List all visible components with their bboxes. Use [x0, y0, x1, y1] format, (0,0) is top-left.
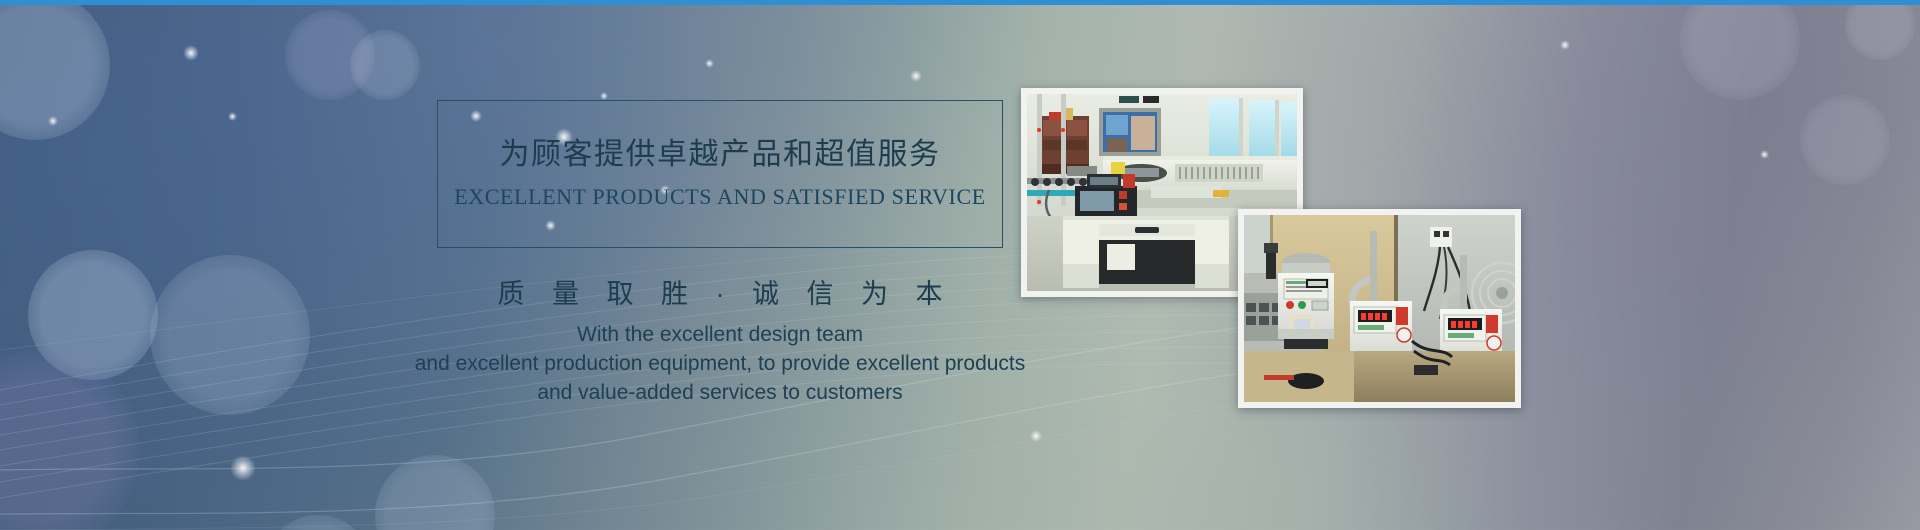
press-machines-photo-image — [1244, 215, 1515, 402]
headline-chinese: 为顾客提供卓越产品和超值服务 — [438, 129, 1002, 173]
paragraph-line: and value-added services to customers — [330, 378, 1110, 407]
slogan-chinese: 质 量 取 胜 · 诚 信 为 本 — [437, 272, 1003, 311]
paragraph-line: and excellent production equipment, to p… — [330, 349, 1110, 378]
bokeh-circle — [1800, 95, 1890, 185]
paragraph-line: With the excellent design team — [330, 320, 1110, 349]
sparkle-dot — [1760, 150, 1769, 159]
bokeh-circle — [1680, 0, 1800, 100]
headline-english: EXCELLENT PRODUCTS AND SATISFIED SERVICE — [438, 184, 1002, 210]
headline-frame: 为顾客提供卓越产品和超值服务 EXCELLENT PRODUCTS AND SA… — [437, 100, 1003, 248]
sparkle-dot — [1560, 40, 1570, 50]
press-machines-photo — [1238, 209, 1521, 408]
company-culture-banner: 为顾客提供卓越产品和超值服务 EXCELLENT PRODUCTS AND SA… — [0, 0, 1920, 530]
bokeh-circle — [1845, 0, 1915, 60]
paragraph-english: With the excellent design team and excel… — [330, 320, 1110, 407]
top-accent-rule — [0, 0, 1920, 5]
